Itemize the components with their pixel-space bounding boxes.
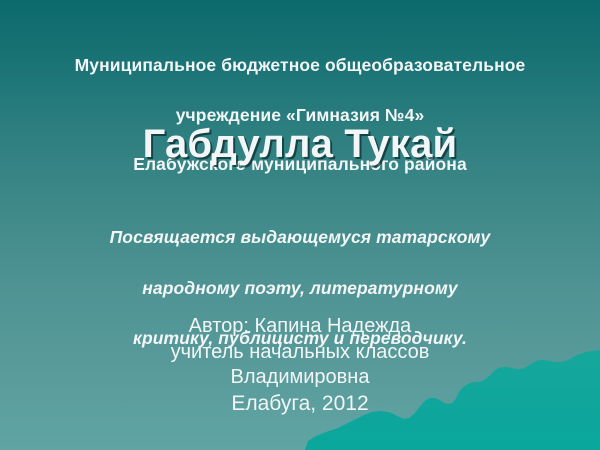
- slide-title: Габдулла Тукай: [0, 121, 600, 168]
- author-name-line-2: Владимировна: [0, 365, 600, 391]
- dedication-line-1: Посвящается выдающемуся татарскому: [0, 225, 600, 250]
- slide-content: Муниципальное бюджетное общеобразователь…: [0, 0, 600, 450]
- institution-header-line-1: Муниципальное бюджетное общеобразователь…: [0, 53, 600, 78]
- place-and-year: Елабуга, 2012: [0, 392, 600, 417]
- presentation-slide: Муниципальное бюджетное общеобразователь…: [0, 0, 600, 450]
- institution-header: Муниципальное бюджетное общеобразователь…: [0, 28, 600, 202]
- author-role: учитель начальных классов: [0, 341, 600, 365]
- author-name-line-1: Автор: Капина Надежда: [0, 314, 600, 340]
